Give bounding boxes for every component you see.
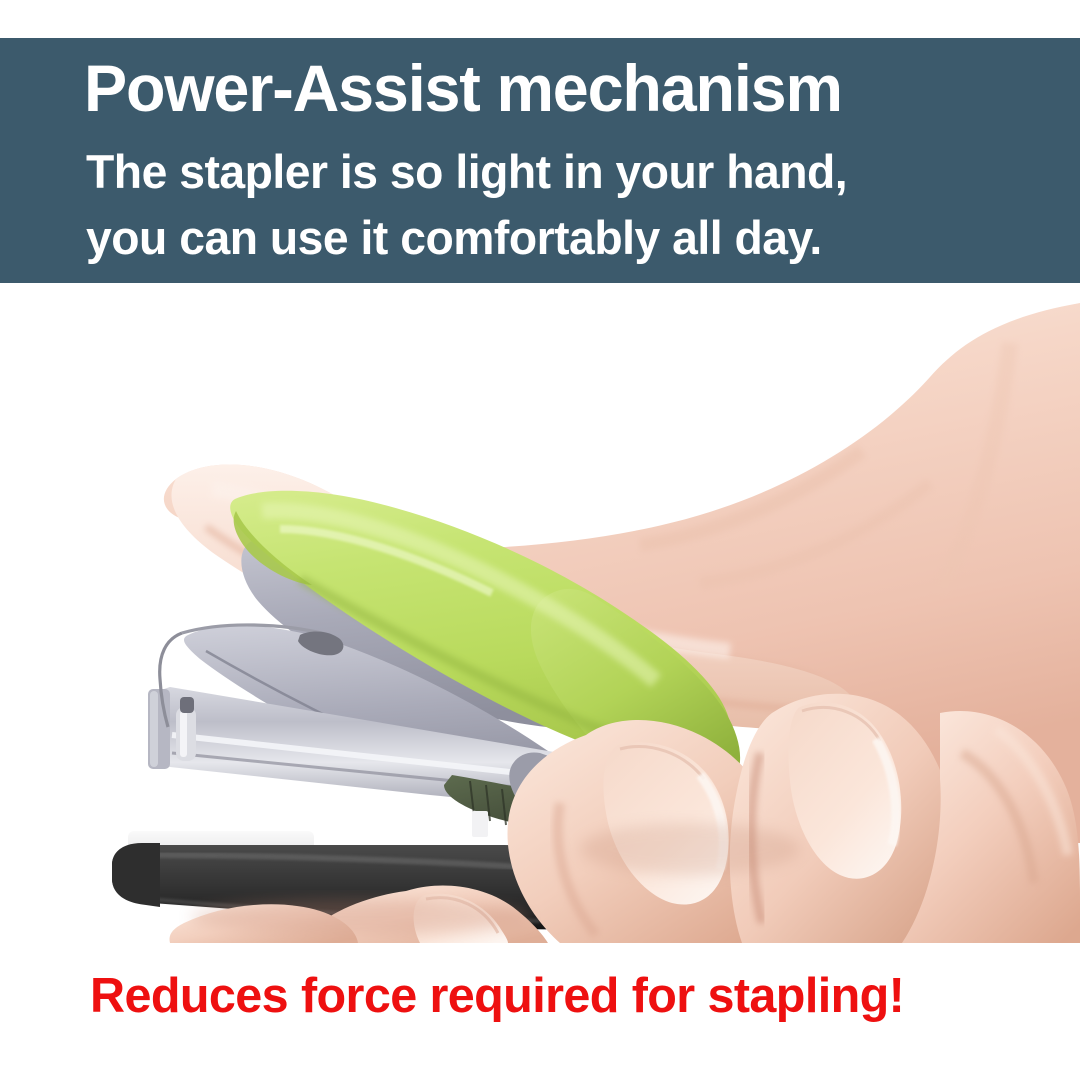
stapler-in-hand-illustration bbox=[0, 283, 1080, 943]
header-subtitle-line-2: you can use it comfortably all day. bbox=[86, 205, 847, 271]
page-title: Power-Assist mechanism bbox=[84, 50, 842, 126]
product-photo bbox=[0, 283, 1080, 943]
header-subtitle-line-1: The stapler is so light in your hand, bbox=[86, 139, 847, 205]
promo-page: Power-Assist mechanism The stapler is so… bbox=[0, 0, 1080, 1080]
header-subtitle: The stapler is so light in your hand, yo… bbox=[86, 139, 847, 271]
footer-caption: Reduces force required for stapling! bbox=[90, 966, 1001, 1026]
header-banner: Power-Assist mechanism The stapler is so… bbox=[0, 38, 1080, 283]
